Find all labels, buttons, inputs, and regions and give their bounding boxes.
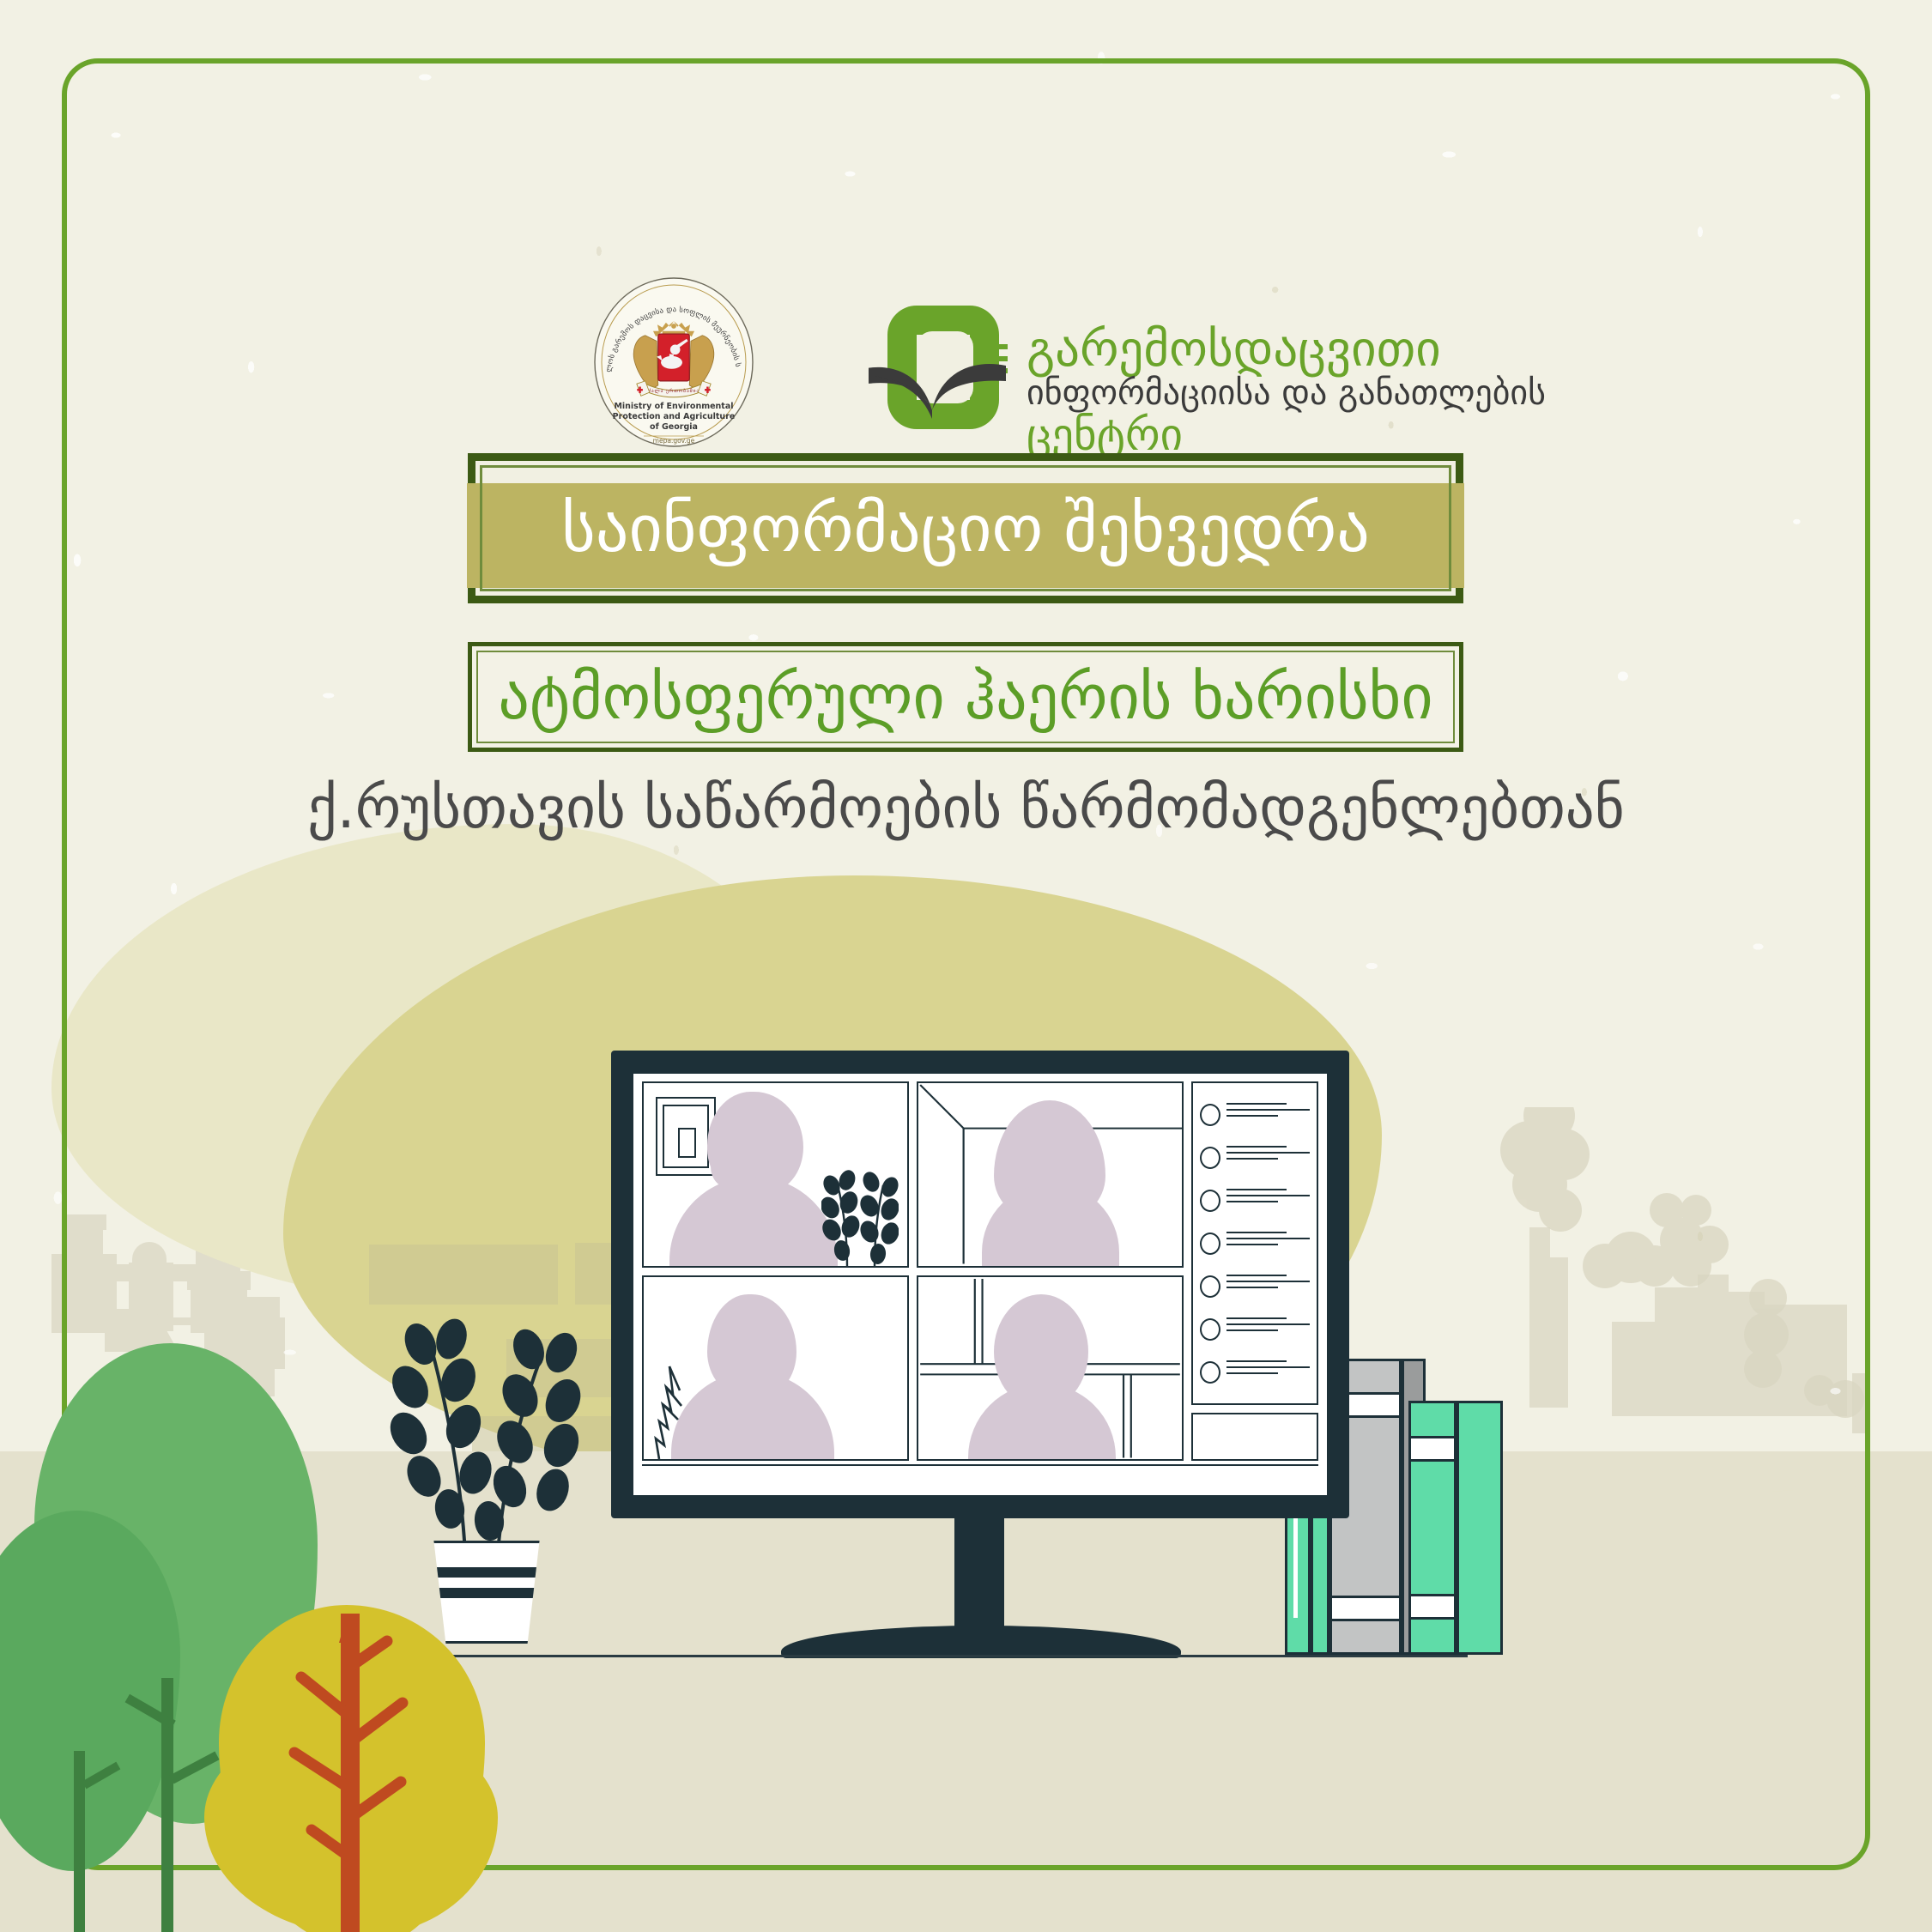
avatar-icon bbox=[1200, 1275, 1220, 1298]
participant-row[interactable] bbox=[1200, 1360, 1310, 1384]
banner-primary: საინფორმაციო შეხვედრა bbox=[468, 453, 1463, 603]
participant-list[interactable] bbox=[1191, 1081, 1318, 1405]
ministry-emblem-icon: საქართველოს გარემოს დაცვისა და სოფლის მე… bbox=[592, 276, 755, 448]
participant-list-panel[interactable] bbox=[1191, 1081, 1318, 1461]
logo-line-1: გარემოსდაცვითი bbox=[1027, 324, 1559, 374]
monitor bbox=[611, 1051, 1349, 1518]
monitor-screen bbox=[633, 1074, 1327, 1495]
logo-line-2: ინფორმაციისა და განათლების bbox=[1027, 374, 1559, 413]
participant-row[interactable] bbox=[1200, 1103, 1310, 1126]
participant-row[interactable] bbox=[1200, 1275, 1310, 1298]
avatar-icon bbox=[1200, 1104, 1220, 1126]
svg-text:of Georgia: of Georgia bbox=[650, 422, 698, 432]
participant-row[interactable] bbox=[1200, 1317, 1310, 1341]
pot-stripe bbox=[429, 1567, 544, 1578]
book-mint-right bbox=[1408, 1401, 1457, 1655]
book-mint-right-2 bbox=[1457, 1401, 1503, 1655]
centre-logo-text: გარემოსდაცვითი ინფორმაციისა და განათლები… bbox=[1027, 324, 1559, 458]
avatar-icon bbox=[1200, 1190, 1220, 1212]
avatar-icon bbox=[1200, 1361, 1220, 1384]
pot-stripe bbox=[429, 1588, 544, 1598]
banner-primary-label: საინფორმაციო შეხვედრა bbox=[561, 490, 1370, 566]
participant-row[interactable] bbox=[1200, 1146, 1310, 1169]
centre-logo-mark-icon bbox=[869, 290, 1021, 445]
participant-row[interactable] bbox=[1200, 1189, 1310, 1212]
video-tile-participant-4[interactable] bbox=[917, 1275, 1184, 1462]
avatar-icon bbox=[1200, 1232, 1220, 1255]
plant-sprig-icon bbox=[821, 1154, 899, 1266]
banner-secondary: ატმოსფერული ჰაერის ხარისხი bbox=[468, 642, 1463, 752]
video-tile-participant-2[interactable] bbox=[917, 1081, 1184, 1268]
video-tile-participant-3[interactable] bbox=[642, 1275, 909, 1462]
spiky-plant-icon bbox=[647, 1356, 699, 1459]
screen-bottom-bar bbox=[642, 1464, 1318, 1488]
participant-row[interactable] bbox=[1200, 1232, 1310, 1255]
logo-line-3: ცენტრი bbox=[1027, 413, 1559, 459]
svg-text:mepa.gov.ge: mepa.gov.ge bbox=[653, 437, 695, 445]
header: საქართველოს გარემოს დაცვისა და სოფლის მე… bbox=[0, 129, 1932, 343]
avatar-icon bbox=[1200, 1147, 1220, 1169]
desk-surface-line bbox=[421, 1655, 1468, 1657]
subtitle: ქ.რუსთავის საწარმოების წარმომადგენლებთან bbox=[0, 774, 1932, 841]
potted-plant-leaves-icon bbox=[369, 1305, 609, 1553]
video-tile-grid bbox=[642, 1081, 1184, 1461]
poster-canvas: საქართველოს გარემოს დაცვისა და სოფლის მე… bbox=[0, 0, 1932, 1932]
tree-yellow-branches-icon bbox=[219, 1614, 494, 1932]
wall-picture-icon bbox=[656, 1097, 716, 1176]
video-tile-participant-1[interactable] bbox=[642, 1081, 909, 1268]
tree-green-trunk-2 bbox=[74, 1751, 85, 1932]
meeting-controls-bar[interactable] bbox=[1191, 1413, 1318, 1461]
svg-text:Protection and Agriculture: Protection and Agriculture bbox=[613, 412, 736, 421]
banner-secondary-label: ატმოსფერული ჰაერის ხარისხი bbox=[498, 661, 1432, 733]
svg-text:ძალა ერთობაშია: ძალა ერთობაშია bbox=[648, 388, 700, 394]
avatar-icon bbox=[1200, 1318, 1220, 1341]
svg-text:Ministry of Environmental: Ministry of Environmental bbox=[614, 402, 733, 411]
